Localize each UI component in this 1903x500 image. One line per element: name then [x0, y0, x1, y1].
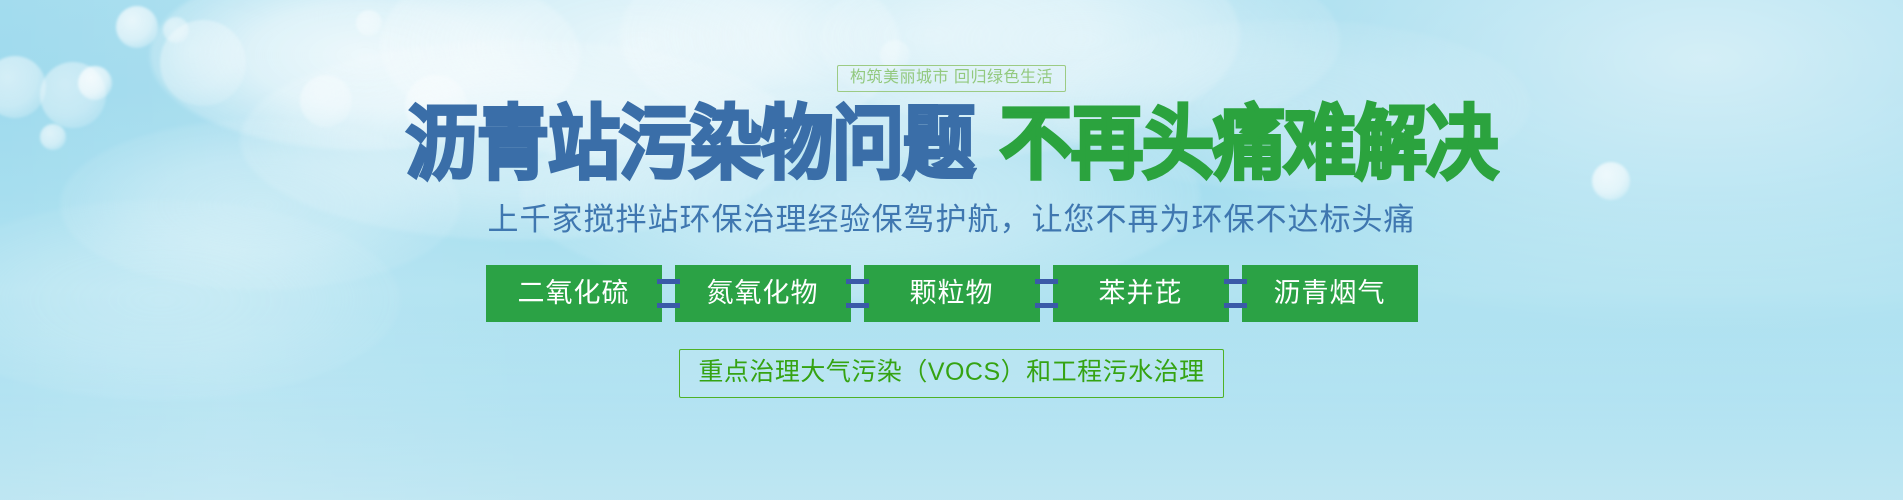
promo-banner: 构筑美丽城市 回归绿色生活 沥青站污染物问题 不再头痛难解决 上千家搅拌站环保治… [0, 0, 1903, 500]
subtitle: 上千家搅拌站环保治理经验保驾护航，让您不再为环保不达标头痛 [488, 204, 1416, 235]
pollutant-tag[interactable]: 氮氧化物 [675, 265, 851, 322]
pollutant-tag[interactable]: 颗粒物 [864, 265, 1040, 322]
headline: 沥青站污染物问题 不再头痛难解决 [406, 112, 1497, 184]
pollutant-tag[interactable]: 沥青烟气 [1242, 265, 1418, 322]
pollutant-tag[interactable]: 二氧化硫 [486, 265, 662, 322]
headline-part-green: 不再头痛难解决 [1000, 103, 1497, 184]
headline-part-blue: 沥青站污染物问题 [406, 103, 974, 184]
tag-separator [1229, 265, 1242, 322]
tag-separator [1040, 265, 1053, 322]
tagline-badge: 构筑美丽城市 回归绿色生活 [837, 65, 1066, 92]
banner-content: 构筑美丽城市 回归绿色生活 沥青站污染物问题 不再头痛难解决 上千家搅拌站环保治… [0, 0, 1903, 500]
pollutant-tag[interactable]: 苯并芘 [1053, 265, 1229, 322]
pollutant-tag-row: 二氧化硫 氮氧化物 颗粒物 苯并芘 沥青烟气 [486, 265, 1418, 322]
footer-note-badge: 重点治理大气污染（VOCS）和工程污水治理 [679, 349, 1223, 398]
tag-separator [851, 265, 864, 322]
tag-separator [662, 265, 675, 322]
